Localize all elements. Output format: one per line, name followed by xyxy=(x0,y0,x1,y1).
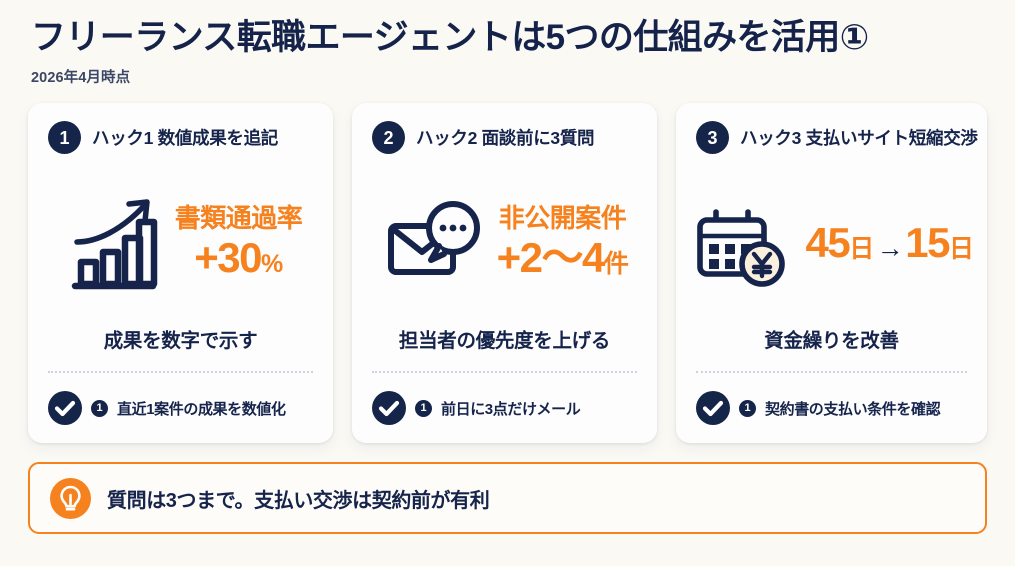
card-3-caption: 資金繰りを改善 xyxy=(692,324,971,353)
card-2-check-row: 1 前日に3点だけメール xyxy=(368,391,641,429)
card-3-divider xyxy=(696,371,967,373)
card-1-stat: 書類通過率 +30% xyxy=(175,204,303,280)
hack-card-3[interactable]: 3 ハック3 支払いサイト短縮交渉 xyxy=(676,103,987,443)
card-1-stat-label: 書類通過率 xyxy=(175,204,303,234)
card-2-item-number: 1 xyxy=(415,400,432,417)
page-title: フリーランス転職エージェントは5つの仕組みを活用① xyxy=(31,18,987,57)
card-2-hero: 非公開案件 +2〜4件 xyxy=(368,160,641,324)
card-3-title: ハック3 支払いサイト短縮交渉 xyxy=(740,125,978,150)
card-3-head: 3 ハック3 支払いサイト短縮交渉 xyxy=(692,121,971,154)
page-subtitle: 2026年4月時点 xyxy=(31,66,987,87)
hack-cards-row: 1 ハック1 数値成果を追記 書類通過率 xyxy=(28,103,987,443)
card-2-head: 2 ハック2 面談前に3質問 xyxy=(368,121,641,154)
card-1-number-badge: 1 xyxy=(48,121,81,154)
card-3-stat-after-unit: 日 xyxy=(949,236,974,262)
tip-banner-text: 質問は3つまで。支払い交渉は契約前が有利 xyxy=(107,484,489,513)
tip-banner: 質問は3つまで。支払い交渉は契約前が有利 xyxy=(28,462,987,534)
card-2-item-text: 前日に3点だけメール xyxy=(441,398,580,419)
hack-card-1[interactable]: 1 ハック1 数値成果を追記 書類通過率 xyxy=(28,103,333,443)
card-1-head: 1 ハック1 数値成果を追記 xyxy=(44,121,317,154)
card-3-stat-before-unit: 日 xyxy=(849,236,874,262)
hack-card-2[interactable]: 2 ハック2 面談前に3質問 非公開案件 xyxy=(352,103,657,443)
card-3-item-number: 1 xyxy=(739,400,756,417)
lightbulb-icon xyxy=(50,478,91,519)
card-3-item-text: 契約書の支払い条件を確認 xyxy=(765,398,940,419)
card-1-hero: 書類通過率 +30% xyxy=(44,160,317,324)
card-3-hero: 45日→15日 xyxy=(692,160,971,324)
card-2-stat-label: 非公開案件 xyxy=(497,204,629,234)
card-3-check-row: 1 契約書の支払い条件を確認 xyxy=(692,391,971,429)
card-3-number-badge: 3 xyxy=(696,121,729,154)
card-1-divider xyxy=(48,371,313,373)
card-1-stat-unit: % xyxy=(261,251,283,277)
card-1-check-row: 1 直近1案件の成果を数値化 xyxy=(44,391,317,429)
check-circle-icon xyxy=(48,391,82,425)
card-3-stat-after-number: 15 xyxy=(905,221,949,265)
card-3-stat-value: 45日→15日 xyxy=(806,221,974,265)
card-2-number-badge: 2 xyxy=(372,121,405,154)
bar-chart-growth-icon xyxy=(59,190,163,294)
card-1-stat-number: +30 xyxy=(194,236,261,280)
card-1-item-number: 1 xyxy=(91,400,108,417)
card-3-stat: 45日→15日 xyxy=(806,219,974,265)
card-2-title: ハック2 面談前に3質問 xyxy=(416,125,594,150)
card-2-stat-unit: 件 xyxy=(604,251,629,277)
card-2-stat-number: +2〜4 xyxy=(497,236,604,280)
infographic-page: フリーランス転職エージェントは5つの仕組みを活用① 2026年4月時点 1 ハッ… xyxy=(0,0,1015,566)
card-1-title: ハック1 数値成果を追記 xyxy=(92,125,278,150)
check-circle-icon xyxy=(696,391,730,425)
card-3-stat-before-number: 45 xyxy=(806,221,850,265)
card-1-stat-value: +30% xyxy=(175,236,303,280)
card-1-item-text: 直近1案件の成果を数値化 xyxy=(117,398,286,419)
envelope-message-icon xyxy=(381,190,485,294)
card-1-caption: 成果を数字で示す xyxy=(44,324,317,353)
card-2-caption: 担当者の優先度を上げる xyxy=(368,324,641,353)
calendar-yen-icon xyxy=(690,190,794,294)
header: フリーランス転職エージェントは5つの仕組みを活用① 2026年4月時点 xyxy=(28,18,987,87)
card-2-divider xyxy=(372,371,637,373)
card-2-stat-value: +2〜4件 xyxy=(497,236,629,280)
card-2-stat: 非公開案件 +2〜4件 xyxy=(497,204,629,280)
arrow-right-icon: → xyxy=(874,234,906,262)
check-circle-icon xyxy=(372,391,406,425)
